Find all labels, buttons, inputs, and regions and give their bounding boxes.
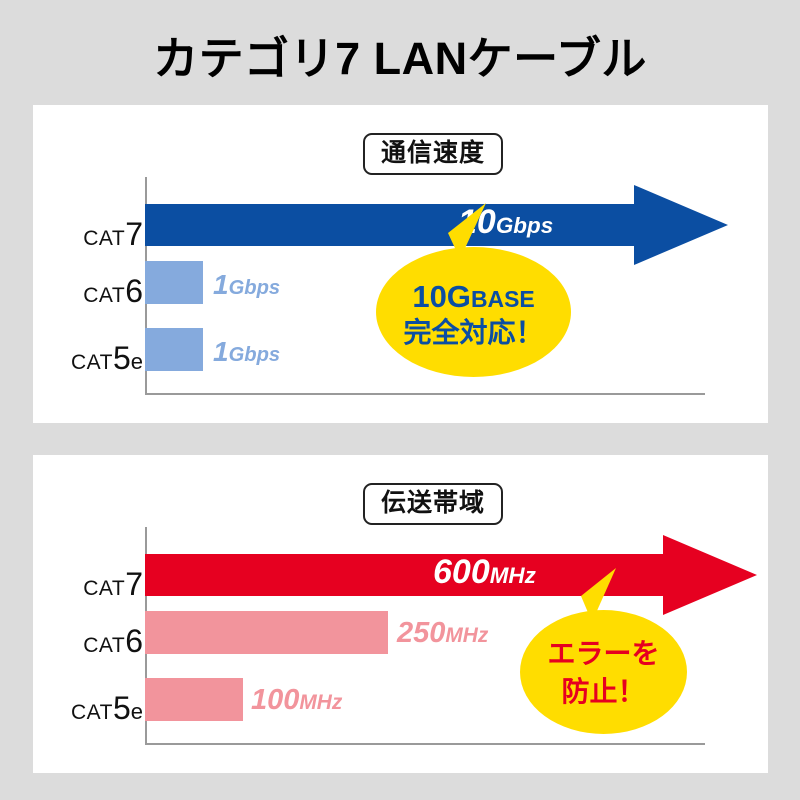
bubble-line-2: 完全対応！ (376, 317, 571, 348)
infographic-page: カテゴリ7 LANケーブル CAT7 10Gbps CAT6 (0, 0, 800, 800)
bar-cat6-speed (145, 261, 203, 304)
chart-axis-horizontal (145, 743, 705, 745)
badge-transmission-bandwidth: 伝送帯域 (363, 483, 503, 525)
bubble-line-1: エラーを (520, 638, 687, 669)
bar-cat5e-bandwidth (145, 678, 243, 721)
bar-value-cat5e-speed: 1Gbps (213, 338, 280, 366)
bubble-line-2: 防止！ (520, 676, 687, 707)
bubble-line-1: 10GBASE (376, 280, 571, 315)
category-label-cat6: CAT6 (57, 625, 143, 657)
panel-communication-speed: CAT7 10Gbps CAT6 1Gbps CAT5e (33, 105, 768, 423)
panel-transmission-bandwidth: CAT7 600MHz CAT6 250MHz CAT5e (33, 455, 768, 773)
category-label-cat7: CAT7 (57, 568, 143, 600)
category-label-cat7: CAT7 (57, 218, 143, 250)
bar-value-cat5e-bandwidth: 100MHz (251, 686, 342, 715)
bar-value-cat6-bandwidth: 250MHz (397, 619, 488, 648)
category-label-cat6: CAT6 (57, 275, 143, 307)
bubble-body (520, 610, 687, 734)
callout-bubble-error-prevention: エラーを 防止！ (520, 610, 687, 734)
bar-cat6-bandwidth (145, 611, 388, 654)
category-label-cat5e: CAT5e (47, 692, 143, 724)
page-title: カテゴリ7 LANケーブル (0, 22, 800, 87)
category-label-cat5e: CAT5e (47, 342, 143, 374)
callout-bubble-10gbase: 10GBASE 完全対応！ (376, 247, 571, 377)
chart-axis-horizontal (145, 393, 705, 395)
bar-value-cat7-bandwidth: 600MHz (433, 555, 536, 589)
bar-value-cat6-speed: 1Gbps (213, 271, 280, 299)
bar-cat5e-speed (145, 328, 203, 371)
badge-communication-speed: 通信速度 (363, 133, 503, 175)
